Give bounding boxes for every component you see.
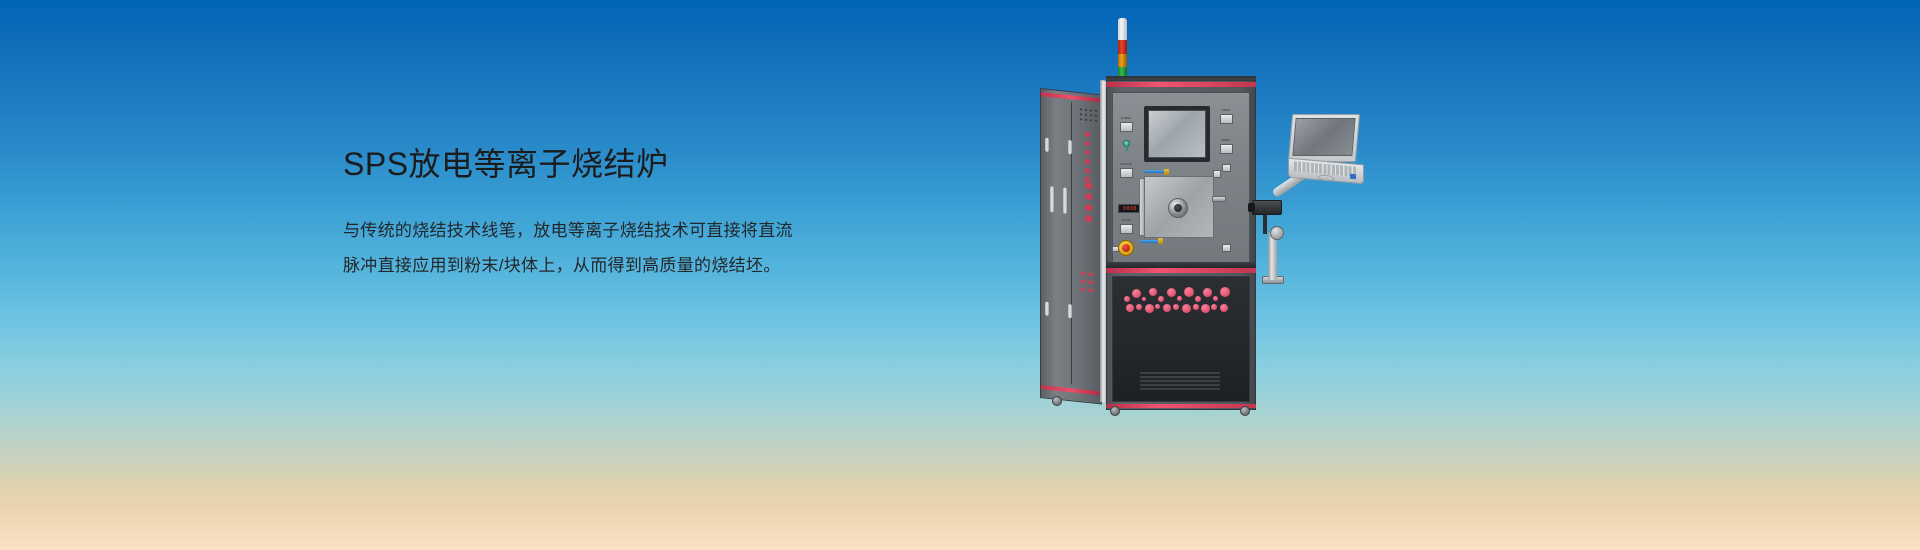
indicator-dot bbox=[1155, 304, 1160, 309]
indicator-dot bbox=[1124, 296, 1130, 302]
panel-key-switch[interactable] bbox=[1122, 140, 1131, 151]
indicator-dot bbox=[1195, 296, 1201, 302]
panel-label-start: START bbox=[1218, 109, 1234, 113]
banner-description: 与传统的烧结技术线笔，放电等离子烧结技术可直接将直流 脉冲直接应用到粉末/块体上… bbox=[343, 213, 903, 283]
monitor-arm-joint[interactable] bbox=[1270, 226, 1284, 240]
description-line-2: 脉冲直接应用到粉末/块体上，从而得到高质量的烧结坯。 bbox=[343, 248, 903, 283]
caster-wheel-right bbox=[1240, 406, 1250, 416]
coolant-pipe-top bbox=[1144, 170, 1166, 173]
emergency-stop-cap[interactable] bbox=[1122, 244, 1130, 252]
panel-port-usb[interactable] bbox=[1213, 170, 1221, 178]
product-banner: SPS放电等离子烧结炉 与传统的烧结技术线笔，放电等离子烧结技术可直接将直流 脉… bbox=[0, 0, 1920, 550]
indicator-dot bbox=[1177, 296, 1182, 301]
panel-button-start[interactable] bbox=[1220, 114, 1233, 124]
indicator-dot bbox=[1213, 296, 1218, 301]
indicator-dot bbox=[1126, 304, 1134, 312]
side-cabinet bbox=[1040, 88, 1102, 405]
indicator-dot bbox=[1132, 289, 1141, 298]
camera-lens-icon bbox=[1248, 203, 1255, 212]
panel-label-pulse: PULSE bbox=[1118, 219, 1134, 223]
chamber-viewport-glass bbox=[1174, 204, 1182, 212]
page-title: SPS放电等离子烧结炉 bbox=[343, 145, 903, 183]
monitoring-camera bbox=[1252, 200, 1282, 215]
indicator-dot bbox=[1145, 304, 1154, 313]
indicator-dot bbox=[1173, 304, 1179, 310]
camera-stand bbox=[1263, 214, 1267, 234]
bottom-accent-stripe bbox=[1106, 404, 1256, 408]
top-accent-stripe bbox=[1106, 82, 1256, 87]
panel-button-aux-2[interactable] bbox=[1222, 244, 1231, 252]
indicator-dot bbox=[1142, 297, 1146, 301]
indicator-dot bbox=[1193, 304, 1199, 310]
panel-switch-pulse[interactable] bbox=[1120, 224, 1133, 234]
indicator-dot bbox=[1203, 288, 1212, 297]
laptop-badge-icon bbox=[1350, 174, 1356, 180]
description-line-1: 与传统的烧结技术线笔，放电等离子烧结技术可直接将直流 bbox=[343, 213, 903, 248]
banner-text-block: SPS放电等离子烧结炉 与传统的烧结技术线笔，放电等离子烧结技术可直接将直流 脉… bbox=[343, 145, 903, 283]
digital-readout-value: 0888 bbox=[1119, 205, 1141, 214]
indicator-dot bbox=[1184, 287, 1194, 297]
panel-label-reset: RESET bbox=[1218, 139, 1234, 143]
mid-accent-stripe bbox=[1106, 268, 1256, 273]
indicator-dot-array bbox=[1122, 286, 1238, 310]
indicator-dot bbox=[1220, 287, 1230, 297]
panel-switch-vacuum[interactable] bbox=[1120, 168, 1133, 178]
ventilation-grille bbox=[1140, 370, 1220, 390]
pipe-fitting-bottom bbox=[1158, 238, 1163, 244]
caster-wheel-mid bbox=[1110, 406, 1120, 416]
caster-wheel-left bbox=[1052, 396, 1062, 406]
panel-button-aux-1[interactable] bbox=[1222, 164, 1231, 172]
indicator-dot bbox=[1167, 288, 1176, 297]
sps-furnace-image: POWER START RESET VACUUM PULSE 0888 bbox=[1040, 18, 1350, 418]
hmi-touchscreen[interactable] bbox=[1148, 110, 1206, 158]
indicator-dot bbox=[1158, 296, 1164, 302]
control-laptop[interactable] bbox=[1288, 114, 1364, 186]
indicator-dot bbox=[1211, 304, 1217, 310]
indicator-dot bbox=[1201, 304, 1210, 313]
pipe-fitting-top bbox=[1164, 169, 1169, 175]
indicator-dot bbox=[1149, 288, 1157, 296]
panel-switch-power[interactable] bbox=[1120, 122, 1133, 132]
chamber-latch-handle[interactable] bbox=[1212, 196, 1226, 202]
panel-button-reset[interactable] bbox=[1220, 144, 1233, 154]
panel-label-vacuum: VACUUM bbox=[1118, 163, 1134, 167]
laptop-screen[interactable] bbox=[1292, 118, 1355, 156]
indicator-dot bbox=[1136, 304, 1142, 310]
panel-label-power: POWER bbox=[1118, 117, 1134, 121]
